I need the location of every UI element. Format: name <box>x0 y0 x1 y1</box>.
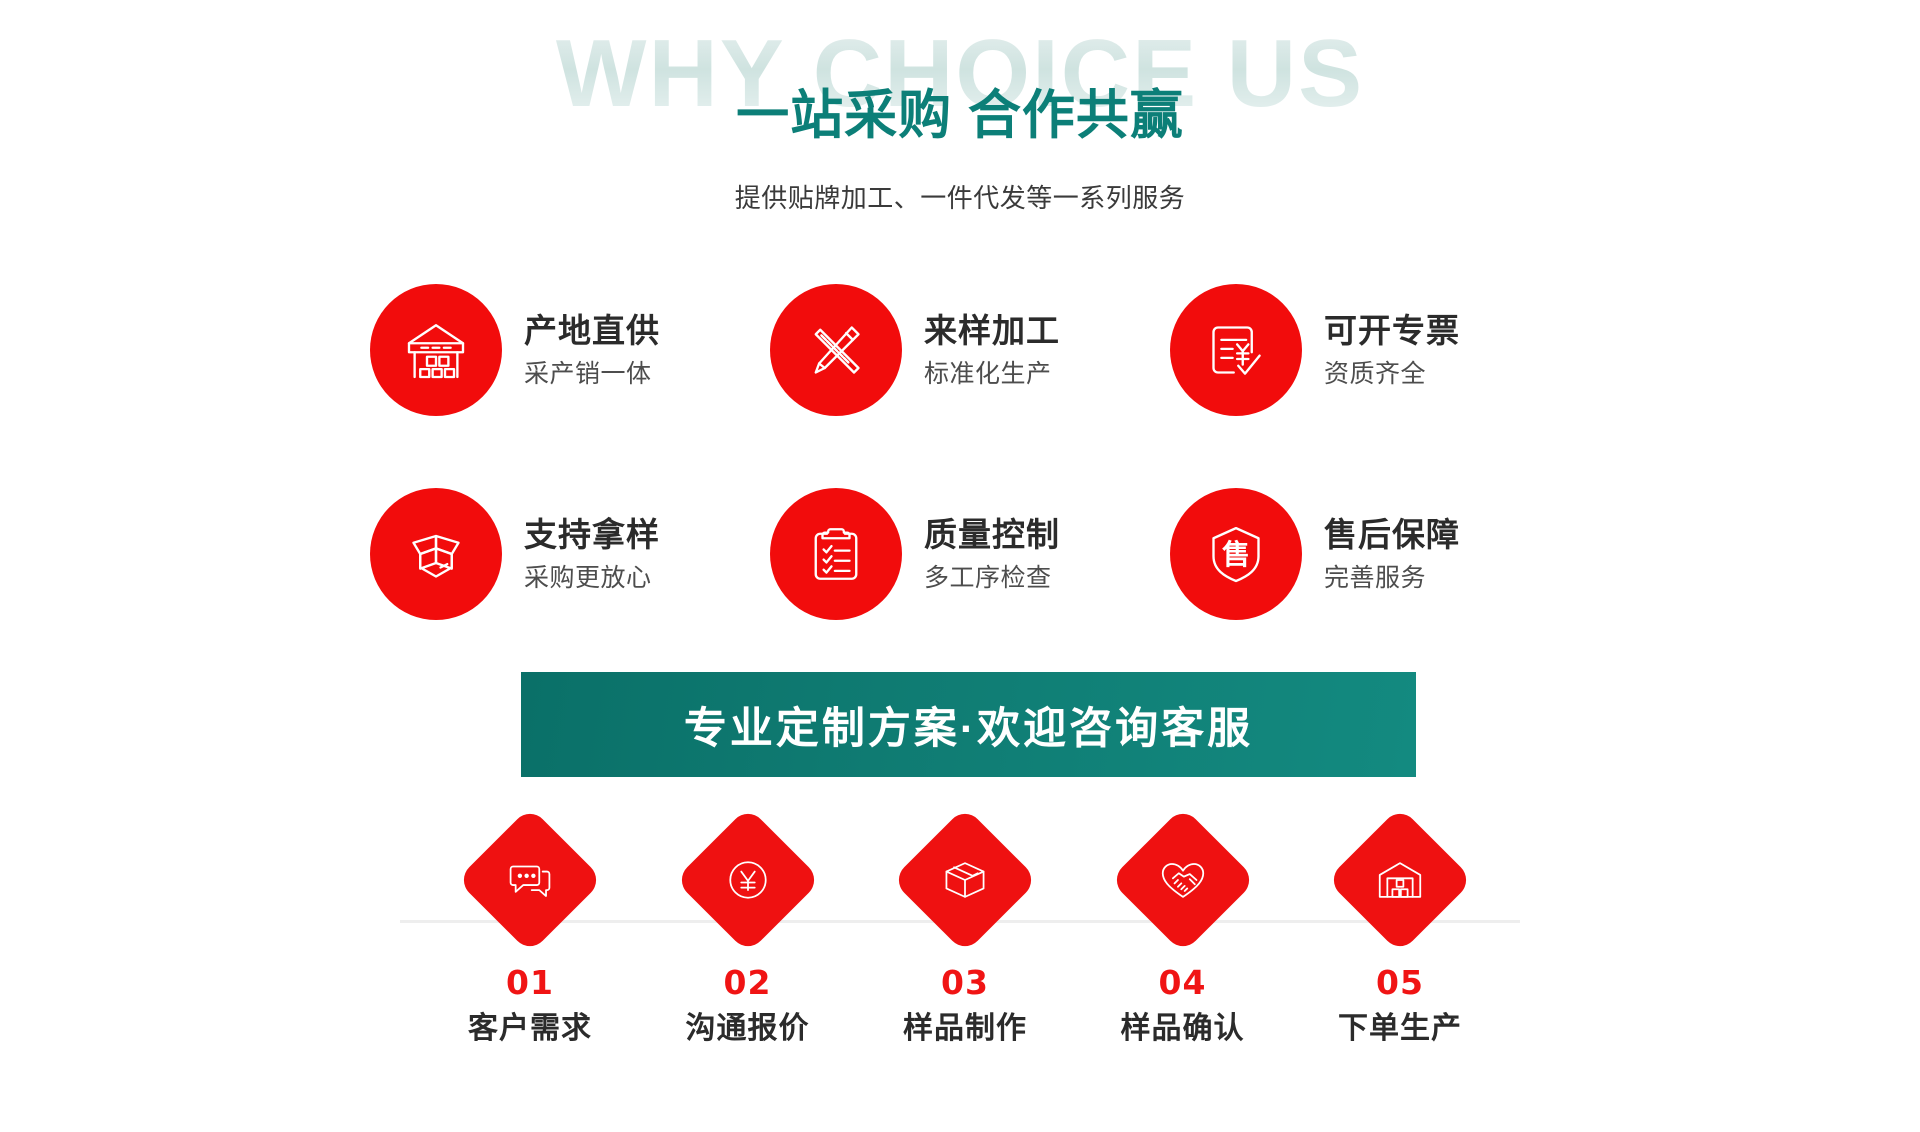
ruler-pencil-icon <box>800 314 872 386</box>
step-icon-diamond <box>891 806 1038 953</box>
feature-text: 可开专票 资质齐全 <box>1324 310 1460 390</box>
feature-card: 售 售后保障 完善服务 <box>1170 452 1570 656</box>
process-step: 01 客户需求 <box>430 828 630 1047</box>
svg-text:售: 售 <box>1222 538 1250 571</box>
process-steps: 01 客户需求 02 沟通报价 <box>430 828 1500 1047</box>
step-number: 05 <box>1376 966 1424 999</box>
feature-subtitle: 完善服务 <box>1324 563 1460 594</box>
feature-subtitle: 采产销一体 <box>524 359 660 390</box>
feature-card: 来样加工 标准化生产 <box>770 248 1170 452</box>
page-header: WHY CHOICE US 一站采购 合作共赢 提供贴牌加工、一件代发等一系列服… <box>0 0 1920 215</box>
step-number: 04 <box>1159 966 1207 999</box>
feature-title: 产地直供 <box>524 310 660 351</box>
yuan-circle-icon <box>721 853 775 907</box>
feature-title: 质量控制 <box>924 514 1060 555</box>
chat-bubbles-icon <box>503 853 557 907</box>
feature-icon-circle <box>370 284 502 416</box>
feature-subtitle: 采购更放心 <box>524 563 660 594</box>
feature-text: 质量控制 多工序检查 <box>924 514 1060 594</box>
page-title: 一站采购 合作共赢 <box>0 88 1920 144</box>
promo-page: WHY CHOICE US 一站采购 合作共赢 提供贴牌加工、一件代发等一系列服… <box>0 0 1920 1132</box>
feature-card: 支持拿样 采购更放心 <box>370 452 770 656</box>
clipboard-checklist-icon <box>800 518 872 590</box>
feature-title: 售后保障 <box>1324 514 1460 555</box>
feature-subtitle: 标准化生产 <box>924 359 1060 390</box>
feature-icon-circle <box>370 488 502 620</box>
process-flow: 01 客户需求 02 沟通报价 <box>0 828 1920 1108</box>
feature-subtitle: 多工序检查 <box>924 563 1060 594</box>
handshake-heart-icon <box>1156 853 1210 907</box>
feature-icon-circle: 售 <box>1170 488 1302 620</box>
step-icon-diamond <box>1326 806 1473 953</box>
page-subtitle: 提供贴牌加工、一件代发等一系列服务 <box>0 178 1920 215</box>
feature-text: 来样加工 标准化生产 <box>924 310 1060 390</box>
invoice-yuan-check-icon <box>1200 314 1272 386</box>
feature-card: 质量控制 多工序检查 <box>770 452 1170 656</box>
feature-text: 支持拿样 采购更放心 <box>524 514 660 594</box>
feature-icon-circle <box>770 284 902 416</box>
step-label: 下单生产 <box>1338 1011 1462 1047</box>
process-step: 05 下单生产 <box>1300 828 1500 1047</box>
step-icon-diamond <box>456 806 603 953</box>
step-number: 03 <box>941 966 989 999</box>
package-box-icon <box>938 853 992 907</box>
factory-warehouse-icon <box>1373 853 1427 907</box>
feature-card: 产地直供 采产销一体 <box>370 248 770 452</box>
process-step: 02 沟通报价 <box>648 828 848 1047</box>
feature-title: 可开专票 <box>1324 310 1460 351</box>
feature-card: 可开专票 资质齐全 <box>1170 248 1570 452</box>
step-number: 01 <box>506 966 554 999</box>
process-step: 03 样品制作 <box>865 828 1065 1047</box>
step-icon-diamond <box>674 806 821 953</box>
cta-banner[interactable]: 专业定制方案·欢迎咨询客服 <box>521 672 1416 777</box>
feature-title: 支持拿样 <box>524 514 660 555</box>
step-icon-diamond <box>1109 806 1256 953</box>
feature-title: 来样加工 <box>924 310 1060 351</box>
step-label: 样品确认 <box>1121 1011 1245 1047</box>
step-number: 02 <box>724 966 772 999</box>
feature-text: 产地直供 采产销一体 <box>524 310 660 390</box>
shield-shou-icon: 售 <box>1200 518 1272 590</box>
open-box-icon <box>400 518 472 590</box>
cta-banner-text: 专业定制方案·欢迎咨询客服 <box>684 694 1253 756</box>
step-label: 样品制作 <box>903 1011 1027 1047</box>
feature-text: 售后保障 完善服务 <box>1324 514 1460 594</box>
feature-icon-circle <box>770 488 902 620</box>
feature-grid: 产地直供 采产销一体 来样 <box>370 248 1570 656</box>
step-label: 客户需求 <box>468 1011 592 1047</box>
feature-icon-circle <box>1170 284 1302 416</box>
feature-subtitle: 资质齐全 <box>1324 359 1460 390</box>
process-step: 04 样品确认 <box>1083 828 1283 1047</box>
step-label: 沟通报价 <box>686 1011 810 1047</box>
warehouse-icon <box>400 314 472 386</box>
